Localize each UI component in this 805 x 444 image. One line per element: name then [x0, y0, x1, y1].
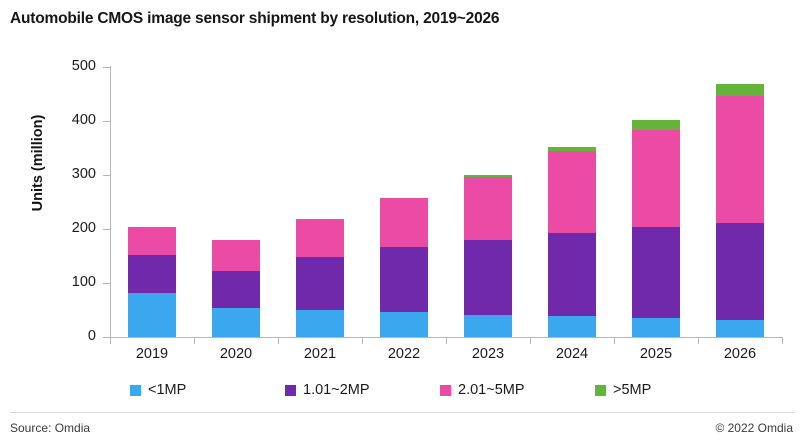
x-tick-label: 2023 [446, 346, 530, 362]
x-tick-mark [782, 337, 783, 344]
bar-segment[interactable] [464, 175, 512, 177]
y-axis-title: Units (million) [30, 78, 46, 248]
x-tick-mark [362, 337, 363, 344]
x-tick-mark [446, 337, 447, 344]
legend-label: <1MP [148, 382, 186, 398]
y-tick-mark [103, 175, 110, 176]
y-tick-mark [103, 67, 110, 68]
y-tick-label: 0 [50, 329, 96, 344]
x-tick-mark [194, 337, 195, 344]
bar-segment[interactable] [548, 151, 596, 233]
bar-segment[interactable] [380, 247, 428, 311]
bar-segment[interactable] [548, 147, 596, 151]
bar-stack[interactable] [716, 84, 764, 337]
legend-swatch-icon [595, 385, 606, 396]
x-tick-label: 2024 [530, 346, 614, 362]
legend-label: 2.01~5MP [458, 382, 525, 398]
bar-segment[interactable] [464, 240, 512, 315]
y-tick-mark [103, 283, 110, 284]
chart-title: Automobile CMOS image sensor shipment by… [10, 10, 499, 28]
legend-swatch-icon [130, 385, 141, 396]
bar-stack[interactable] [380, 198, 428, 337]
bar-segment[interactable] [716, 84, 764, 95]
bar-segment[interactable] [632, 227, 680, 318]
y-tick-label-wrap: 400 [50, 113, 96, 127]
legend-label: >5MP [613, 382, 651, 398]
bar-segment[interactable] [128, 293, 176, 337]
x-tick-mark [110, 337, 111, 344]
x-tick-mark [698, 337, 699, 344]
bar-stack[interactable] [632, 120, 680, 337]
bar-stack[interactable] [296, 219, 344, 337]
bar-stack[interactable] [548, 147, 596, 337]
x-tick-label: 2019 [110, 346, 194, 362]
plot-area [110, 67, 782, 337]
bar-segment[interactable] [632, 120, 680, 130]
y-tick-label-wrap: 200 [50, 221, 96, 235]
bar-segment[interactable] [212, 308, 260, 337]
bar-segment[interactable] [716, 320, 764, 337]
bar-stack[interactable] [464, 175, 512, 337]
bar-segment[interactable] [128, 255, 176, 293]
x-tick-mark [278, 337, 279, 344]
bar-segment[interactable] [128, 227, 176, 255]
x-tick-mark [614, 337, 615, 344]
chart-legend: <1MP1.01~2MP2.01~5MP>5MP [130, 382, 750, 398]
y-tick-mark [103, 337, 110, 338]
source-label: Source: Omdia [10, 421, 90, 435]
bar-segment[interactable] [716, 223, 764, 320]
bar-segment[interactable] [380, 312, 428, 337]
bar-segment[interactable] [632, 318, 680, 337]
legend-item[interactable]: 1.01~2MP [285, 382, 440, 398]
bar-segment[interactable] [464, 315, 512, 337]
legend-item[interactable]: >5MP [595, 382, 750, 398]
y-tick-mark [103, 229, 110, 230]
legend-item[interactable]: 2.01~5MP [440, 382, 595, 398]
legend-item[interactable]: <1MP [130, 382, 285, 398]
y-tick-label: 200 [50, 221, 96, 236]
bar-segment[interactable] [380, 198, 428, 247]
bar-segment[interactable] [632, 130, 680, 227]
y-tick-label-wrap: 0 [50, 329, 96, 343]
y-tick-label: 300 [50, 167, 96, 182]
x-tick-mark [530, 337, 531, 344]
copyright-label: © 2022 Omdia [715, 421, 793, 435]
bar-segment[interactable] [548, 316, 596, 337]
bar-stack[interactable] [212, 240, 260, 337]
legend-swatch-icon [285, 385, 296, 396]
bar-segment[interactable] [296, 257, 344, 310]
footer-divider [10, 412, 795, 413]
y-tick-label: 400 [50, 113, 96, 128]
chart-container: Automobile CMOS image sensor shipment by… [0, 0, 805, 444]
bar-segment[interactable] [296, 310, 344, 337]
bar-segment[interactable] [548, 233, 596, 316]
y-tick-label: 500 [50, 59, 96, 74]
x-tick-label: 2022 [362, 346, 446, 362]
x-tick-label: 2025 [614, 346, 698, 362]
bar-stack[interactable] [128, 227, 176, 337]
legend-swatch-icon [440, 385, 451, 396]
x-tick-label: 2021 [278, 346, 362, 362]
bar-segment[interactable] [716, 96, 764, 223]
y-tick-label-wrap: 300 [50, 167, 96, 181]
legend-label: 1.01~2MP [303, 382, 370, 398]
y-tick-label: 100 [50, 275, 96, 290]
x-tick-label: 2026 [698, 346, 782, 362]
y-tick-label-wrap: 100 [50, 275, 96, 289]
x-tick-label: 2020 [194, 346, 278, 362]
bar-segment[interactable] [212, 271, 260, 309]
y-tick-label-wrap: 500 [50, 59, 96, 73]
bar-segment[interactable] [212, 240, 260, 270]
y-tick-mark [103, 121, 110, 122]
bar-segment[interactable] [296, 219, 344, 257]
bar-segment[interactable] [464, 177, 512, 240]
